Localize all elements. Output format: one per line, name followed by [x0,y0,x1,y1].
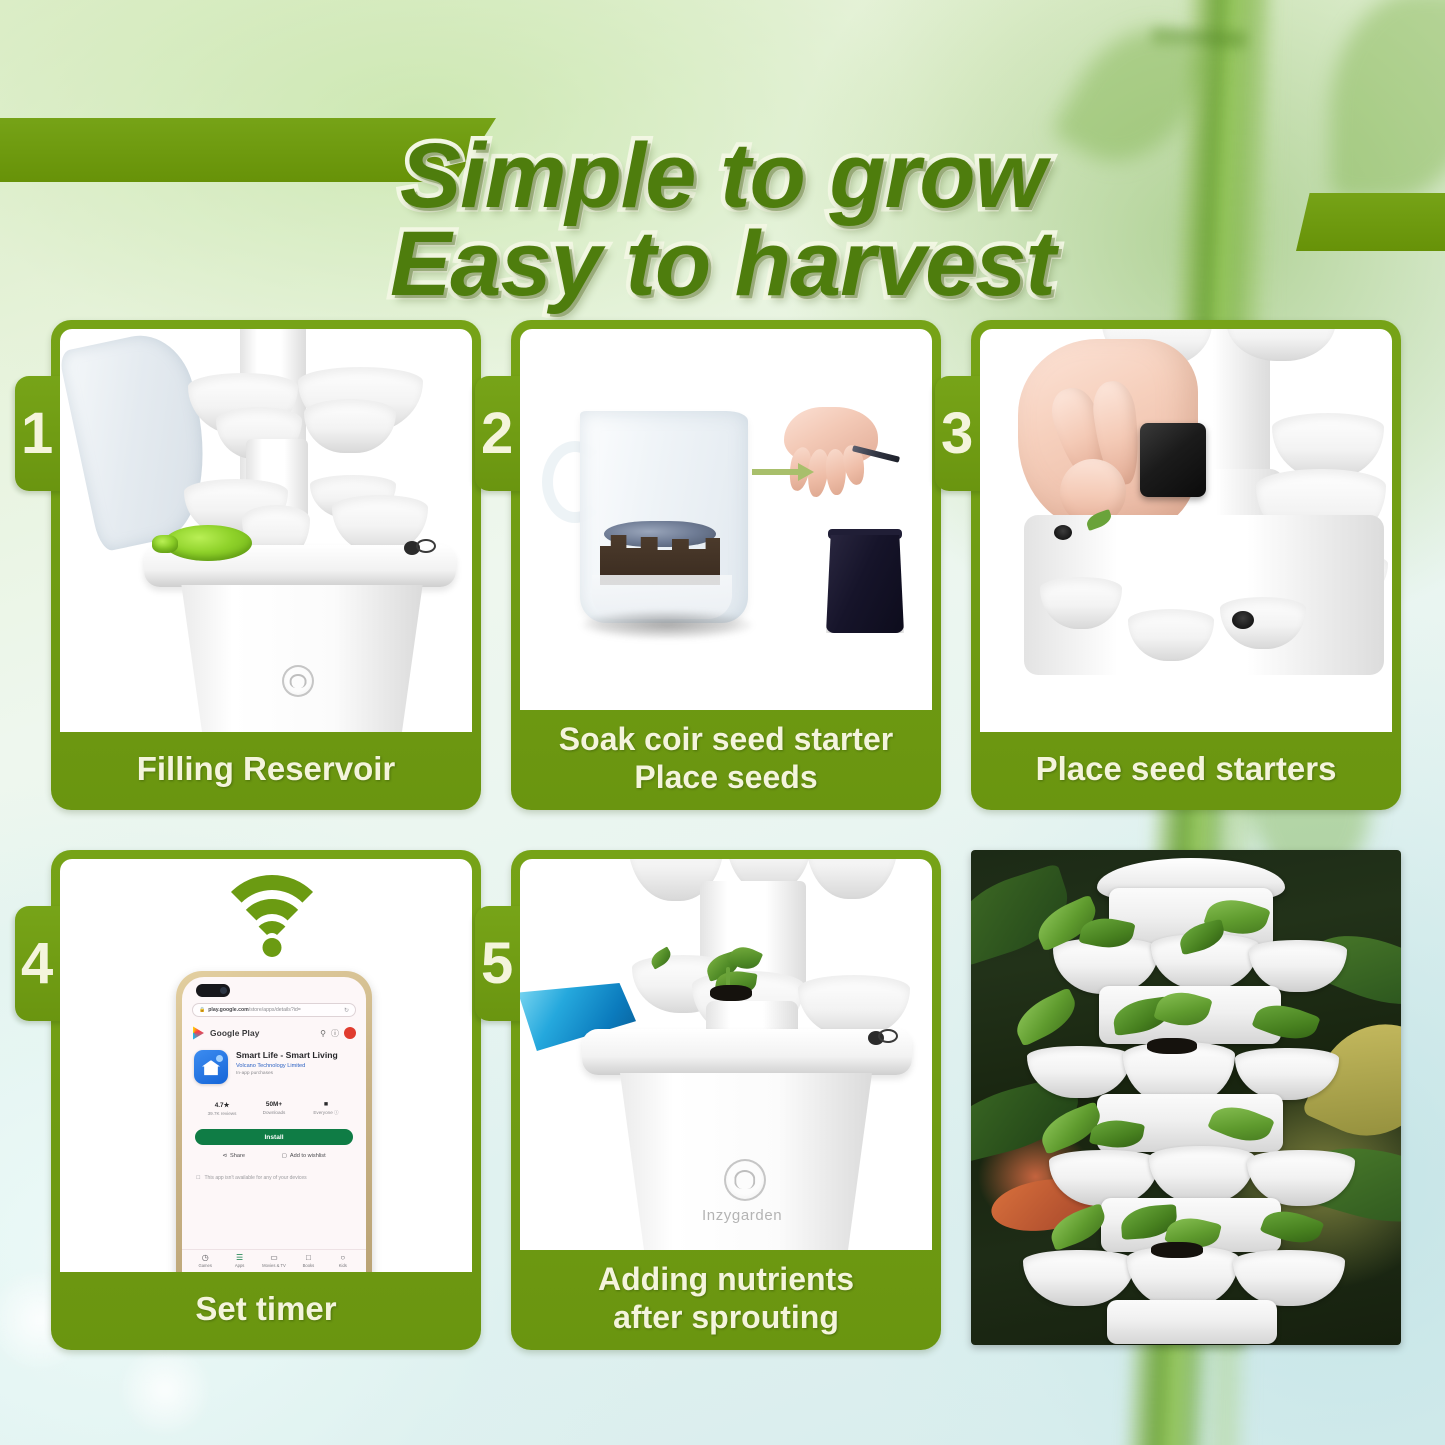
browser-url-bar[interactable]: 🔒 play.google.com/store/apps/details?id=… [192,1003,356,1017]
tower-cup [806,859,898,899]
headline-line-2: Easy to harvest [0,220,1445,308]
stat-rating-label: 39.7K reviews [196,1111,248,1116]
inzygarden-logo-emblem [282,665,314,697]
grid-row-gap [36,810,1416,850]
apps-icon: ☰ [222,1253,256,1262]
google-play-title: Google Play [210,1028,260,1038]
wifi-icon [212,873,332,953]
lock-icon: 🔒 [199,1007,205,1013]
step-label-3: Place seed starters [980,732,1392,810]
step-label-1: Filling Reservoir [60,732,472,810]
drain-tube [878,1029,898,1043]
share-icon: ⊲ [222,1153,227,1159]
smart-life-app-icon [194,1050,228,1084]
green-funnel-spout [152,535,178,553]
tower-cup [1023,1250,1135,1306]
arrow-icon [752,469,800,475]
assembled-tower-garden-photo [971,850,1401,1345]
kids-icon: ○ [326,1253,360,1262]
step-photo-filling-reservoir [60,329,472,732]
step-card-2[interactable]: 2 [511,320,941,810]
tab-kids-label: Kids [326,1263,360,1268]
step-number-4: 4 [21,935,53,993]
games-icon: ◷ [188,1253,222,1262]
stat-rating-content: ■ Everyone ⓘ [300,1101,352,1116]
content-rating-label: Everyone ⓘ [300,1110,352,1116]
play-store-tab-bar: ◷ Games ☰ Apps ▭ Movies & TV [182,1249,366,1271]
step-card-4[interactable]: 4 🔒 [51,850,481,1350]
in-app-purchase-note: In-app purchases [236,1071,354,1076]
soil-plug [710,985,752,1001]
drain-tube [416,539,436,553]
steps-grid: 1 [36,320,1416,1410]
help-icon[interactable]: ⓘ [331,1028,339,1039]
tab-movies-label: Movies & TV [257,1263,291,1268]
phone-screen[interactable]: 🔒 play.google.com/store/apps/details?id=… [182,977,366,1272]
inzygarden-logo-emblem [724,1159,766,1201]
plant-leaf [1009,987,1083,1046]
stat-rating: 4.7★ 39.7K reviews [196,1101,248,1116]
tab-movies[interactable]: ▭ Movies & TV [257,1253,291,1268]
wishlist-action[interactable]: ▢ Add to wishlist [282,1153,326,1159]
planting-hole [1054,525,1072,540]
headline-line-1: Simple to grow [400,125,1045,227]
soil-plug [1147,1038,1197,1054]
avatar[interactable] [344,1027,356,1039]
seed-pouch [826,535,904,633]
device-icon: ☐ [196,1175,200,1181]
wishlist-label: Add to wishlist [290,1153,326,1159]
stat-downloads-value: 50M+ [248,1101,300,1108]
bookmark-icon: ▢ [282,1153,287,1159]
url-domain: play.google.com [208,1007,249,1013]
step-card-3[interactable]: 3 [971,320,1401,810]
tower-cup [1149,1146,1255,1204]
planting-hole [1232,611,1254,629]
step-card-5[interactable]: 5 [511,850,941,1350]
tab-games-label: Games [188,1263,222,1268]
google-play-header: Google Play ⚲ ⓘ [192,1024,356,1042]
url-text: play.google.com/store/apps/details?id= [208,1007,341,1013]
tab-apps[interactable]: ☰ Apps [222,1253,256,1268]
tab-books[interactable]: □ Books [291,1253,325,1268]
app-name: Smart Life - Smart Living [236,1050,354,1060]
infographic-root: Simple to grow Easy to harvest 1 [0,0,1445,1445]
app-developer[interactable]: Volcano Technology Limited [236,1063,354,1069]
step-photo-place-seed-starters [980,329,1392,732]
movies-icon: ▭ [257,1253,291,1262]
share-action[interactable]: ⊲ Share [222,1153,245,1159]
result-photo-card [971,850,1401,1350]
search-icon[interactable]: ⚲ [320,1029,326,1038]
tab-games[interactable]: ◷ Games [188,1253,222,1268]
tab-kids[interactable]: ○ Kids [326,1253,360,1268]
device-availability-note: ☐ This app isn't available for any of yo… [196,1175,352,1181]
soil-plug [1151,1242,1203,1258]
tower-cup [798,975,910,1037]
tab-apps-label: Apps [222,1263,256,1268]
seed-starter-cube [1140,423,1206,497]
stat-downloads: 50M+ Downloads [248,1101,300,1116]
headline-block: Simple to grow Easy to harvest [0,44,1445,244]
google-play-logo-icon [192,1026,205,1040]
step-label-4: Set timer [60,1272,472,1350]
step-photo-set-timer: 🔒 play.google.com/store/apps/details?id=… [60,859,472,1272]
step-photo-adding-nutrients: Inzygarden [520,859,932,1250]
step-number-1: 1 [21,405,53,463]
tab-books-label: Books [291,1263,325,1268]
tower-cup [304,399,396,453]
step-number-5: 5 [481,935,513,993]
books-icon: □ [291,1253,325,1262]
tower-cup [1233,1250,1345,1306]
stat-downloads-label: Downloads [248,1110,300,1115]
brand-name: Inzygarden [702,1207,782,1224]
smartphone[interactable]: 🔒 play.google.com/store/apps/details?id=… [176,971,372,1272]
app-listing-row: Smart Life - Smart Living Volcano Techno… [194,1050,354,1084]
front-camera-cutout [196,984,230,997]
app-stats-row: 4.7★ 39.7K reviews 50M+ Downloads ■ Ever… [196,1101,352,1116]
reservoir-body [168,585,436,732]
step-label-2: Soak coir seed starter Place seeds [520,710,932,810]
wifi-dot [263,938,282,957]
step-number-3: 3 [941,405,973,463]
stat-rating-value: 4.7★ [196,1101,248,1109]
install-button[interactable]: Install [195,1129,353,1145]
content-rating-icon: ■ [300,1101,352,1108]
reservoir-lid [582,1029,912,1075]
android-nav-bar: ‹ ○ □ ☰ [182,1271,366,1272]
step-number-2: 2 [481,405,513,463]
step-photo-soak-coir [520,329,932,710]
share-label: Share [230,1153,245,1159]
tower-tier [1107,1300,1277,1344]
step-card-1[interactable]: 1 [51,320,481,810]
app-actions-row: ⊲ Share ▢ Add to wishlist [204,1153,344,1159]
device-note-text: This app isn't available for any of your… [204,1175,306,1181]
url-path: /store/apps/details?id= [249,1007,301,1013]
step-label-5: Adding nutrients after sprouting [520,1250,932,1350]
reload-icon[interactable]: ↻ [344,1007,349,1014]
pitcher-shadow [582,611,752,639]
